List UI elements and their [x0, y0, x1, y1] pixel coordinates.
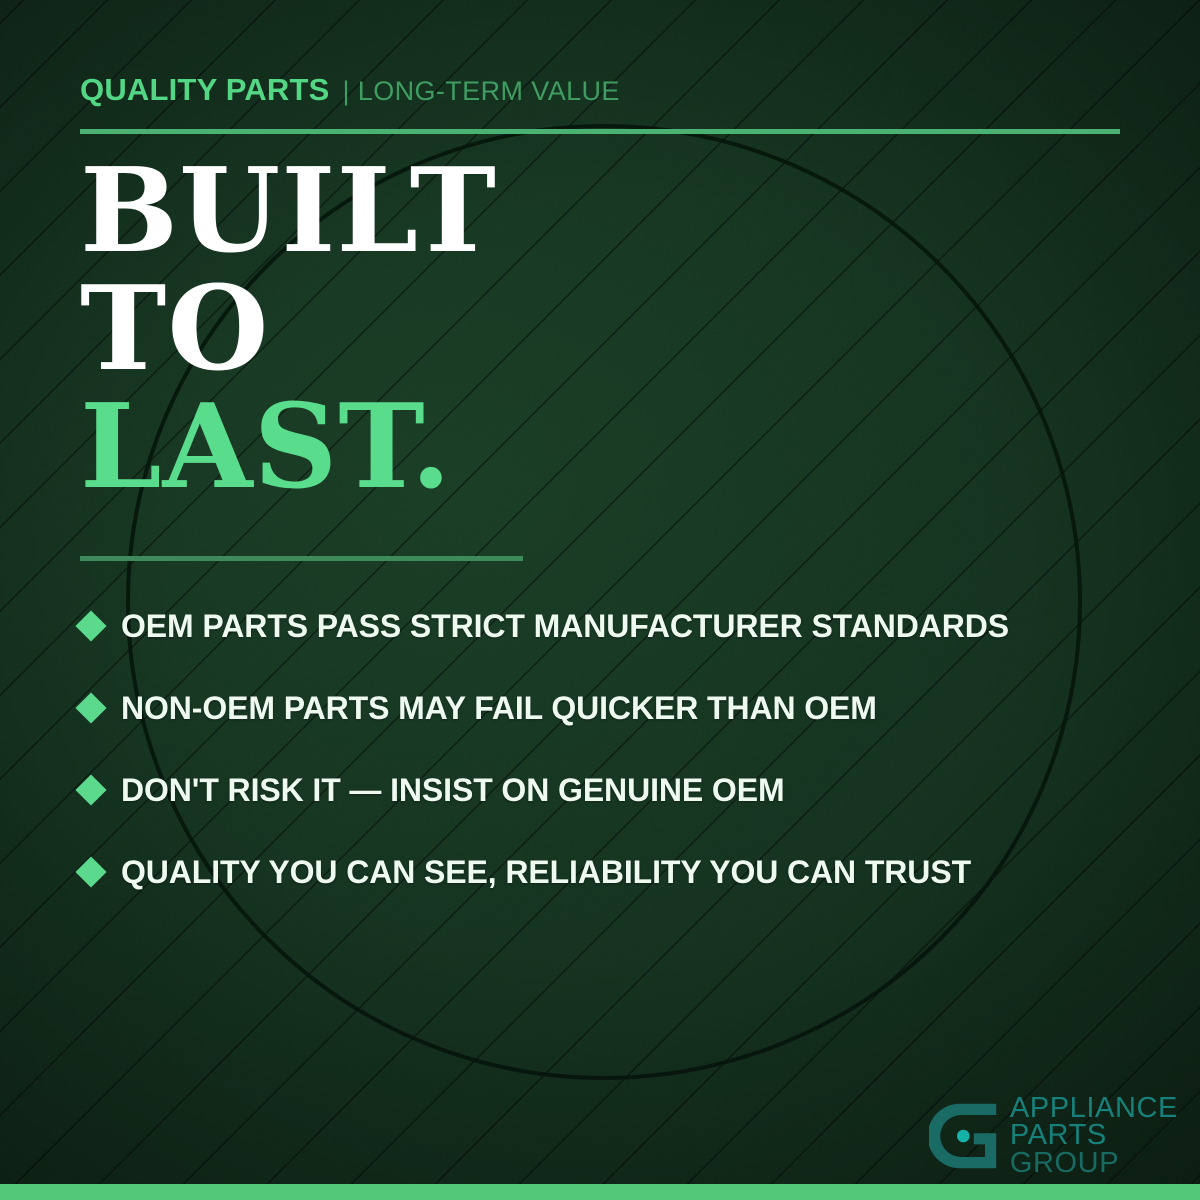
list-item-label: DON'T RISK IT — INSIST ON GENUINE OEM: [121, 772, 785, 809]
poster-canvas: QUALITY PARTS | LONG-TERM VALUE BUILT TO…: [0, 0, 1200, 1200]
list-item: OEM PARTS PASS STRICT MANUFACTURER STAND…: [80, 585, 1130, 667]
eyebrow-sub-label: | LONG-TERM VALUE: [342, 76, 619, 107]
benefits-list: OEM PARTS PASS STRICT MANUFACTURER STAND…: [80, 585, 1130, 913]
headline-line-1: BUILT: [80, 152, 497, 270]
logo-line-2: PARTS: [1010, 1122, 1178, 1150]
list-item-label: QUALITY YOU CAN SEE, RELIABILITY YOU CAN…: [121, 854, 971, 891]
list-item-label: OEM PARTS PASS STRICT MANUFACTURER STAND…: [121, 608, 1009, 645]
brand-logo: APPLIANCE PARTS GROUP: [929, 1095, 1178, 1178]
headline-line-3: LAST.: [80, 388, 497, 506]
headline-line-2: TO: [80, 270, 497, 388]
page-title: BUILT TO LAST.: [80, 152, 497, 506]
logo-wordmark: APPLIANCE PARTS GROUP: [1010, 1095, 1178, 1178]
logo-g-mark-icon: [929, 1101, 999, 1171]
diamond-bullet-icon: [75, 692, 106, 723]
logo-line-3: GROUP: [1010, 1150, 1178, 1178]
diamond-bullet-icon: [75, 610, 106, 641]
content-layer: QUALITY PARTS | LONG-TERM VALUE BUILT TO…: [0, 0, 1200, 1200]
diamond-bullet-icon: [75, 774, 106, 805]
eyebrow: QUALITY PARTS | LONG-TERM VALUE: [80, 72, 620, 108]
logo-line-1: APPLIANCE: [1010, 1095, 1178, 1123]
headline-divider-rule: [80, 556, 523, 561]
list-item: DON'T RISK IT — INSIST ON GENUINE OEM: [80, 749, 1130, 831]
eyebrow-main-label: QUALITY PARTS: [80, 72, 329, 108]
diamond-bullet-icon: [75, 856, 106, 887]
bottom-accent-bar: [0, 1184, 1200, 1200]
list-item: QUALITY YOU CAN SEE, RELIABILITY YOU CAN…: [80, 831, 1130, 913]
header-divider-rule: [80, 129, 1120, 134]
list-item-label: NON-OEM PARTS MAY FAIL QUICKER THAN OEM: [121, 690, 877, 727]
list-item: NON-OEM PARTS MAY FAIL QUICKER THAN OEM: [80, 667, 1130, 749]
